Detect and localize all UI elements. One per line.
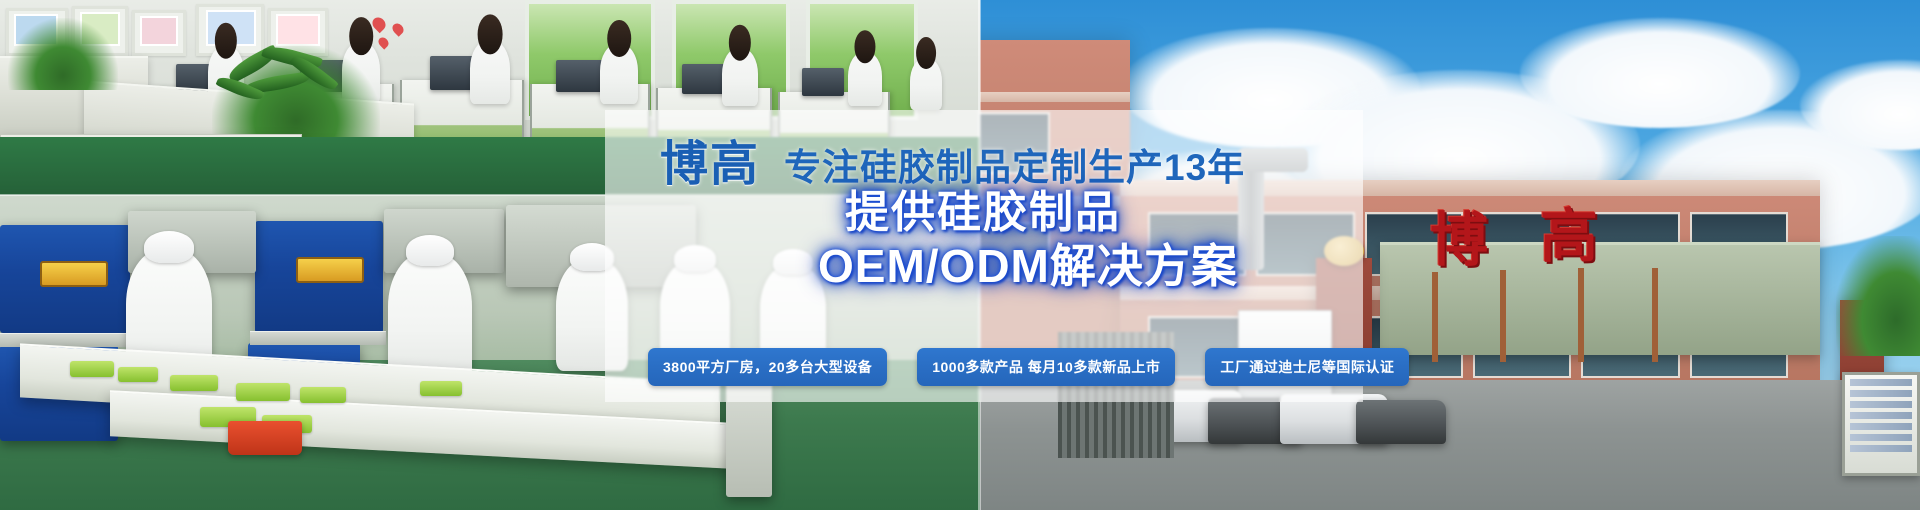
feature-badge-factory-size[interactable]: 3800平方厂房，20多台大型设备 <box>648 348 887 386</box>
promo-banner: 博 高 博高 专注硅胶制品定制生产13年 提供硅胶制品 OEM/ODM解决方案 <box>0 0 1920 510</box>
feature-badge-certification[interactable]: 工厂通过迪士尼等国际认证 <box>1205 348 1409 386</box>
sign-support <box>1432 272 1438 362</box>
brand-name: 博高 <box>660 124 760 194</box>
headline-tertiary: OEM/ODM解决方案 <box>818 230 1238 296</box>
roof-sign-char-1: 博 <box>1430 212 1488 270</box>
sign-support <box>1500 270 1506 362</box>
feature-badge-list: 3800平方厂房，20多台大型设备 1000多款产品 每月10多款新品上市 工厂… <box>648 348 1409 386</box>
roof-sign-char-2: 高 <box>1540 208 1598 266</box>
feature-badge-product-count[interactable]: 1000多款产品 每月10多款新品上市 <box>917 348 1175 386</box>
sign-support <box>1652 268 1658 362</box>
sign-support <box>1578 268 1584 362</box>
